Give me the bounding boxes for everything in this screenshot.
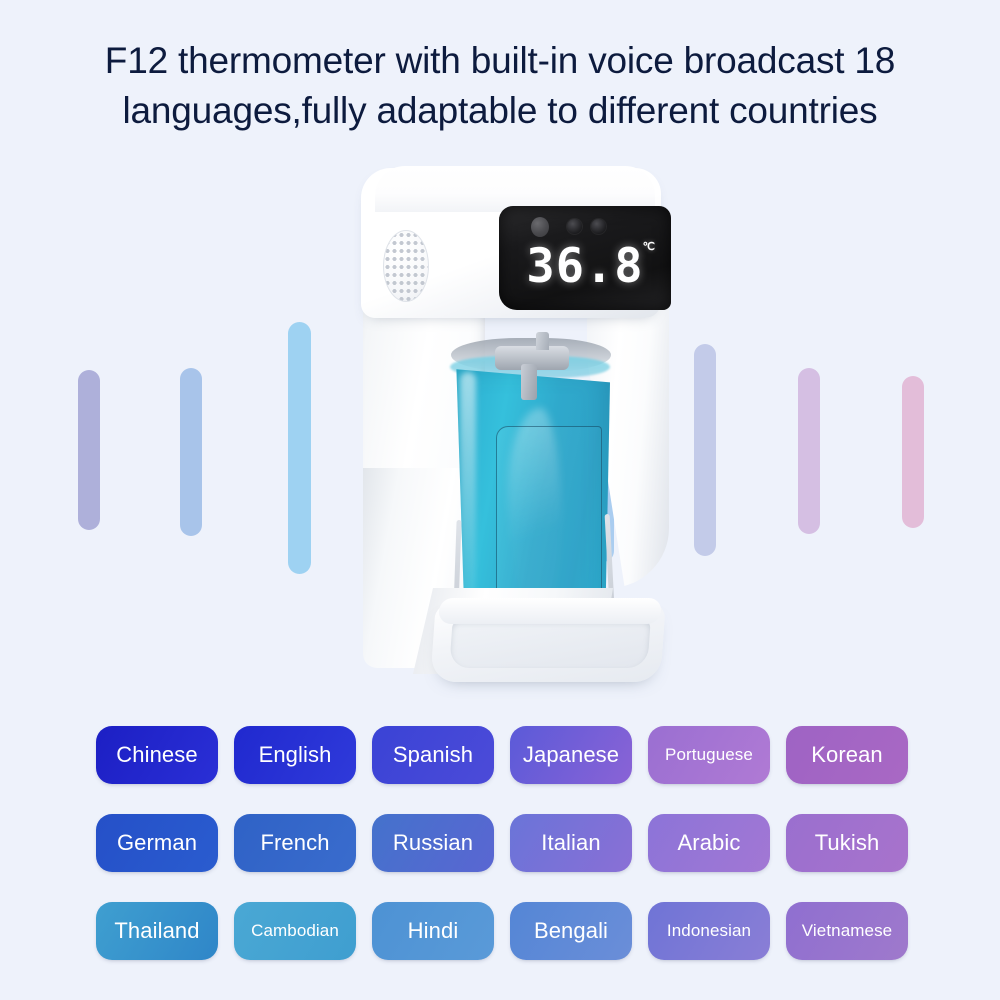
- bar-6: [798, 368, 820, 534]
- language-badge: Arabic: [648, 814, 770, 872]
- language-badge-label: Portuguese: [665, 745, 753, 765]
- language-badge: Vietnamese: [786, 902, 908, 960]
- language-badge-label: Thailand: [114, 918, 199, 944]
- product-image-thermometer-dispenser: ℃ 36.8: [355, 168, 685, 698]
- language-badge-label: Indonesian: [667, 921, 751, 941]
- reservoir-panel-outline: [496, 426, 602, 610]
- headline-line-2: languages,fully adaptable to different c…: [0, 86, 1000, 136]
- language-badge-label: German: [117, 830, 197, 856]
- language-badge-grid: ChineseEnglishSpanishJapanesePortugueseK…: [96, 726, 908, 960]
- language-badge-label: French: [260, 830, 329, 856]
- language-badge-label: Italian: [541, 830, 600, 856]
- language-badge-label: Japanese: [523, 742, 619, 768]
- liquid-reservoir: [450, 364, 610, 626]
- language-badge: Italian: [510, 814, 632, 872]
- language-badge: Hindi: [372, 902, 494, 960]
- language-badge-label: Chinese: [116, 742, 197, 768]
- language-badge-label: English: [259, 742, 332, 768]
- language-badge-label: Spanish: [393, 742, 473, 768]
- bar-3: [288, 322, 311, 574]
- headline-line-1: F12 thermometer with built-in voice broa…: [0, 36, 1000, 86]
- language-badge-label: Cambodian: [251, 921, 339, 941]
- sensor-lens-2-icon: [591, 219, 606, 234]
- bar-1: [78, 370, 100, 530]
- pump-nozzle: [521, 364, 537, 400]
- language-badge: Bengali: [510, 902, 632, 960]
- language-badge: Spanish: [372, 726, 494, 784]
- bar-2: [180, 368, 202, 536]
- language-badge: French: [234, 814, 356, 872]
- sensor-lens-1-icon: [567, 219, 582, 234]
- language-badge: German: [96, 814, 218, 872]
- device-head: ℃ 36.8: [361, 168, 661, 318]
- language-badge-label: Bengali: [534, 918, 608, 944]
- language-badge: Korean: [786, 726, 908, 784]
- language-badge: Japanese: [510, 726, 632, 784]
- drip-tray-basin: [449, 620, 650, 668]
- drip-tray-lip: [438, 598, 662, 624]
- language-badge-label: Vietnamese: [802, 921, 892, 941]
- language-badge-label: Korean: [811, 742, 883, 768]
- pump-nub: [536, 332, 549, 350]
- language-badge: English: [234, 726, 356, 784]
- speaker-grille-perforations: [384, 231, 428, 301]
- language-badge: Tukish: [786, 814, 908, 872]
- language-badge: Thailand: [96, 902, 218, 960]
- language-badge-label: Tukish: [815, 830, 880, 856]
- language-badge: Russian: [372, 814, 494, 872]
- language-badge: Chinese: [96, 726, 218, 784]
- bar-7: [902, 376, 924, 528]
- language-badge-label: Hindi: [408, 918, 459, 944]
- language-badge: Portuguese: [648, 726, 770, 784]
- language-badge-label: Russian: [393, 830, 473, 856]
- language-badge: Indonesian: [648, 902, 770, 960]
- language-badge-label: Arabic: [678, 830, 741, 856]
- led-display-panel: ℃ 36.8: [499, 206, 671, 310]
- bar-5: [694, 344, 716, 556]
- infrared-sensor-icon: [531, 217, 549, 237]
- language-badge: Cambodian: [234, 902, 356, 960]
- speaker-grille-icon: [383, 230, 429, 302]
- page-title: F12 thermometer with built-in voice broa…: [0, 36, 1000, 136]
- temperature-readout: 36.8: [499, 242, 671, 292]
